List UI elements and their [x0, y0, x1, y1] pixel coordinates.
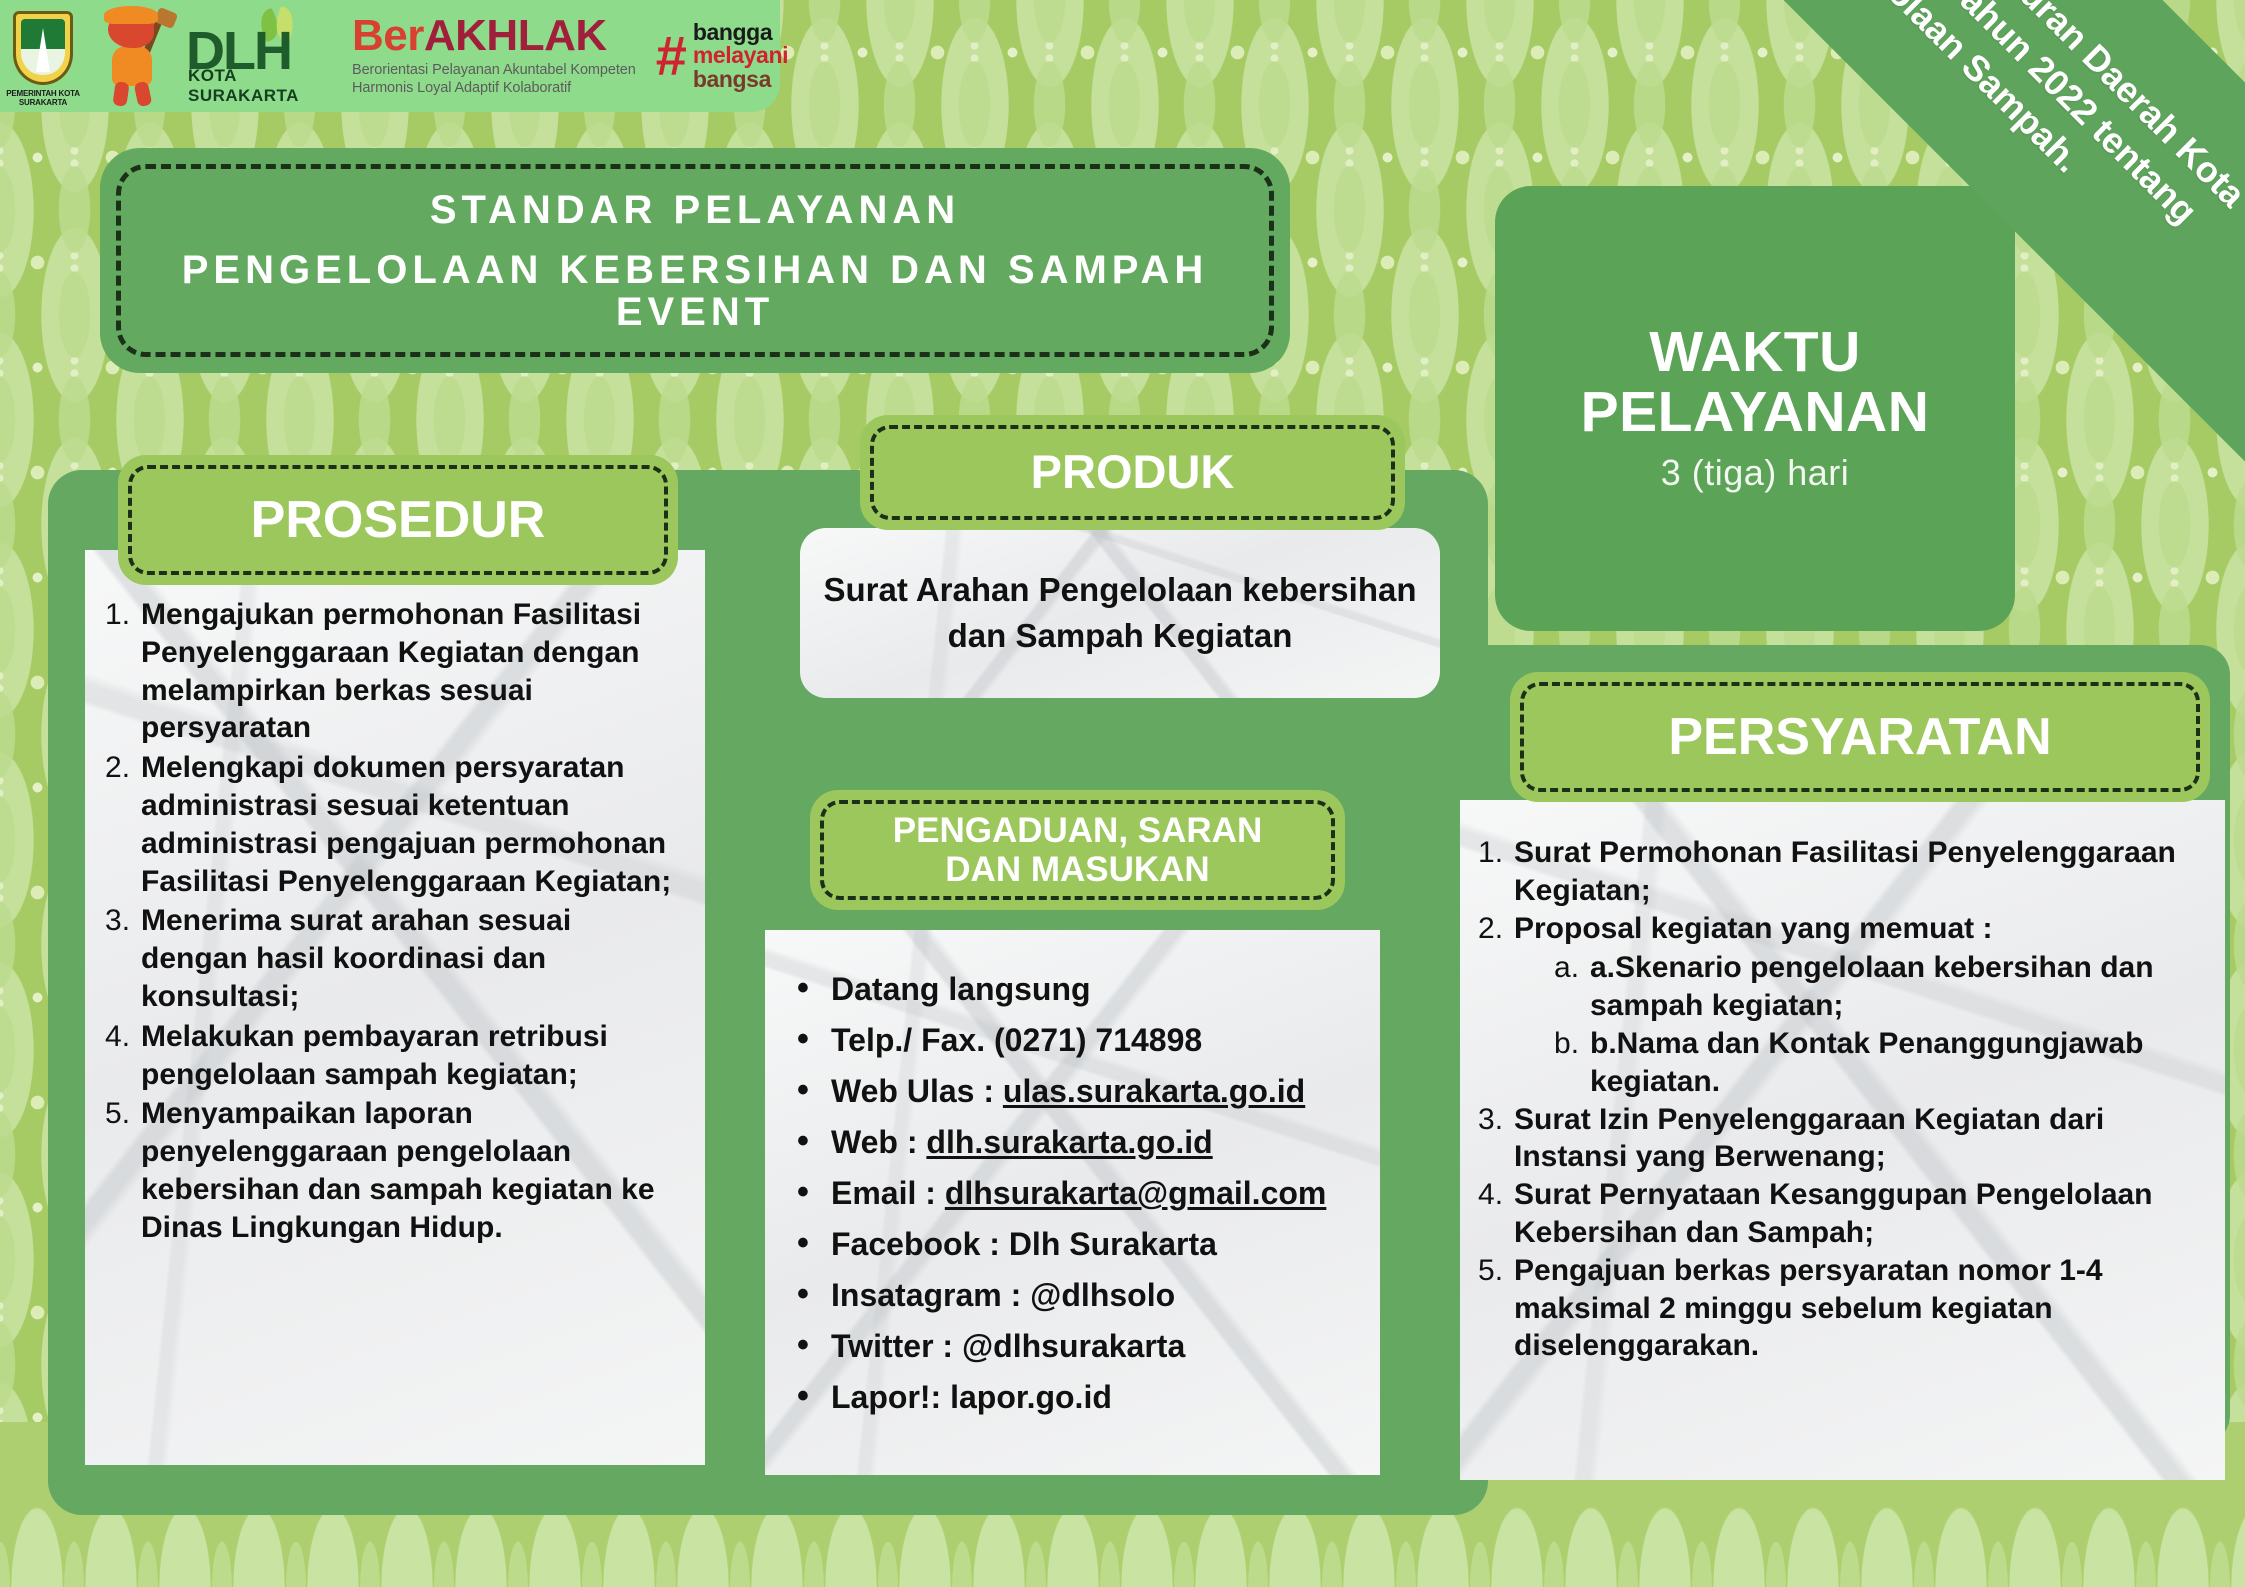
persyaratan-list-item: Surat Izin Penyelenggaraan Kegiatan dari…: [1476, 1101, 2205, 1177]
pengaduan-card: Datang langsungTelp./ Fax. (0271) 714898…: [765, 930, 1380, 1475]
poster-root: Sesuai dengan Peraturan Daerah Kota Sura…: [0, 0, 2245, 1587]
bangga-line-1: bangga: [693, 21, 788, 44]
pengaduan-item-label: Web Ulas :: [831, 1073, 1003, 1109]
bangga-line-3: bangsa: [693, 68, 788, 91]
pengaduan-list-item[interactable]: Email : dlhsurakarta@gmail.com: [795, 1174, 1366, 1213]
persyaratan-sublist-item: b.Nama dan Kontak Penanggungjawab kegiat…: [1554, 1025, 2205, 1101]
pengaduan-item-label: Facebook : Dlh Surakarta: [831, 1226, 1217, 1262]
dlh-logo: DLH KOTA SURAKARTA: [186, 8, 336, 104]
prosedur-list-item: Menerima surat arahan sesuai dengan hasi…: [103, 902, 679, 1015]
pengaduan-item-value[interactable]: dlh.surakarta.go.id: [926, 1124, 1212, 1160]
pengaduan-item-label: Telp./ Fax. (0271) 714898: [831, 1022, 1202, 1058]
persyaratan-list-item: Proposal kegiatan yang memuat :a.Skenari…: [1476, 910, 2205, 1101]
persyaratan-sublist-item: a.Skenario pengelolaan kebersihan dan sa…: [1554, 949, 2205, 1025]
dlh-subtitle: KOTA SURAKARTA: [188, 66, 336, 106]
persyaratan-item-text: Surat Pernyataan Kesanggupan Pengelolaan…: [1514, 1178, 2153, 1249]
berakhlak-subtitle-line1: Berorientasi Pelayanan Akuntabel Kompete…: [352, 62, 636, 80]
persyaratan-item-text: Proposal kegiatan yang memuat :: [1514, 912, 1992, 945]
pengaduan-heading-line2: DAN MASUKAN: [893, 850, 1262, 889]
crest-label: PEMERINTAH KOTA SURAKARTA: [6, 90, 80, 107]
pengaduan-heading-line1: PENGADUAN, SARAN: [893, 811, 1262, 850]
persyaratan-list-item: Surat Permohonan Fasilitasi Penyelenggar…: [1476, 834, 2205, 910]
produk-card: Surat Arahan Pengelolaan kebersihan dan …: [800, 528, 1440, 698]
pengaduan-list-item: Lapor!: lapor.go.id: [795, 1378, 1366, 1417]
prosedur-list-item: Melengkapi dokumen persyaratan administr…: [103, 749, 679, 900]
produk-heading: PRODUK: [1013, 440, 1253, 505]
hashtag-icon: #: [656, 34, 687, 79]
pengaduan-list-item: Datang langsung: [795, 970, 1366, 1009]
prosedur-list-item: Mengajukan permohonan Fasilitasi Penyele…: [103, 596, 679, 747]
prosedur-list-item: Menyampaikan laporan penyelenggaraan pen…: [103, 1095, 679, 1246]
pengaduan-item-label: Insatagram : @dlhsolo: [831, 1277, 1175, 1313]
poster-title-line1: STANDAR PELAYANAN: [430, 189, 960, 231]
pengaduan-list-item: Twitter : @dlhsurakarta: [795, 1327, 1366, 1366]
bangga-melayani-bangsa-logo: # bangga melayani bangsa: [646, 21, 788, 91]
pengaduan-item-label: Datang langsung: [831, 971, 1091, 1007]
pengaduan-item-value[interactable]: dlhsurakarta@gmail.com: [945, 1175, 1327, 1211]
berakhlak-subtitle-line2: Harmonis Loyal Adaptif Kolaboratif: [352, 80, 636, 98]
pengaduan-list-item: Facebook : Dlh Surakarta: [795, 1225, 1366, 1264]
pengaduan-item-label: Twitter : @dlhsurakarta: [831, 1328, 1185, 1364]
section-header-persyaratan: PERSYARATAN: [1510, 672, 2210, 802]
poster-title-line2: PENGELOLAAN KEBERSIHAN DAN SAMPAH EVENT: [100, 249, 1290, 333]
persyaratan-item-text: Surat Permohonan Fasilitasi Penyelenggar…: [1514, 836, 2176, 907]
pengaduan-list-item: Insatagram : @dlhsolo: [795, 1276, 1366, 1315]
pengaduan-list-item[interactable]: Web : dlh.surakarta.go.id: [795, 1123, 1366, 1162]
sweeper-mascot-icon: [90, 6, 176, 106]
prosedur-heading: PROSEDUR: [233, 485, 564, 555]
pengaduan-heading: PENGADUAN, SARAN DAN MASUKAN: [875, 805, 1280, 895]
persyaratan-list-item: Pengajuan berkas persyaratan nomor 1-4 m…: [1476, 1252, 2205, 1365]
prosedur-list: Mengajukan permohonan Fasilitasi Penyele…: [103, 596, 679, 1247]
section-header-prosedur: PROSEDUR: [118, 455, 678, 585]
persyaratan-card: Surat Permohonan Fasilitasi Penyelenggar…: [1460, 800, 2225, 1480]
pengaduan-item-label: Email :: [831, 1175, 945, 1211]
produk-text: Surat Arahan Pengelolaan kebersihan dan …: [800, 567, 1440, 659]
surakarta-crest-icon: PEMERINTAH KOTA SURAKARTA: [6, 7, 80, 105]
berakhlak-title-prefix: Ber: [352, 11, 424, 60]
persyaratan-item-text: Surat Izin Penyelenggaraan Kegiatan dari…: [1514, 1103, 2104, 1174]
logo-bar: PEMERINTAH KOTA SURAKARTA DLH KOTA SURAK…: [0, 0, 780, 112]
waktu-title-line1: WAKTU: [1649, 323, 1860, 383]
persyaratan-sublist: a.Skenario pengelolaan kebersihan dan sa…: [1554, 949, 2205, 1100]
persyaratan-heading: PERSYARATAN: [1650, 702, 2069, 772]
bangga-line-2: melayani: [693, 44, 788, 67]
berakhlak-logo: BerAKHLAK Berorientasi Pelayanan Akuntab…: [346, 14, 636, 98]
prosedur-list-item: Melakukan pembayaran retribusi pengelola…: [103, 1018, 679, 1094]
prosedur-card: Mengajukan permohonan Fasilitasi Penyele…: [85, 550, 705, 1465]
poster-title-banner: STANDAR PELAYANAN PENGELOLAAN KEBERSIHAN…: [100, 148, 1290, 373]
pengaduan-item-value[interactable]: ulas.surakarta.go.id: [1003, 1073, 1305, 1109]
pengaduan-item-label: Lapor!: lapor.go.id: [831, 1379, 1112, 1415]
pengaduan-list: Datang langsungTelp./ Fax. (0271) 714898…: [765, 930, 1380, 1443]
pengaduan-list-item: Telp./ Fax. (0271) 714898: [795, 1021, 1366, 1060]
persyaratan-item-text: Pengajuan berkas persyaratan nomor 1-4 m…: [1514, 1254, 2103, 1363]
pengaduan-list-item[interactable]: Web Ulas : ulas.surakarta.go.id: [795, 1072, 1366, 1111]
section-header-pengaduan: PENGADUAN, SARAN DAN MASUKAN: [810, 790, 1345, 910]
berakhlak-title-suffix: AKHLAK: [424, 11, 607, 60]
waktu-value: 3 (tiga) hari: [1661, 452, 1850, 494]
section-header-produk: PRODUK: [860, 415, 1405, 530]
waktu-pelayanan-card: WAKTU PELAYANAN 3 (tiga) hari: [1495, 186, 2015, 631]
pengaduan-item-label: Web :: [831, 1124, 926, 1160]
persyaratan-list: Surat Permohonan Fasilitasi Penyelenggar…: [1476, 834, 2205, 1365]
waktu-title-line2: PELAYANAN: [1581, 383, 1930, 443]
persyaratan-list-item: Surat Pernyataan Kesanggupan Pengelolaan…: [1476, 1176, 2205, 1252]
